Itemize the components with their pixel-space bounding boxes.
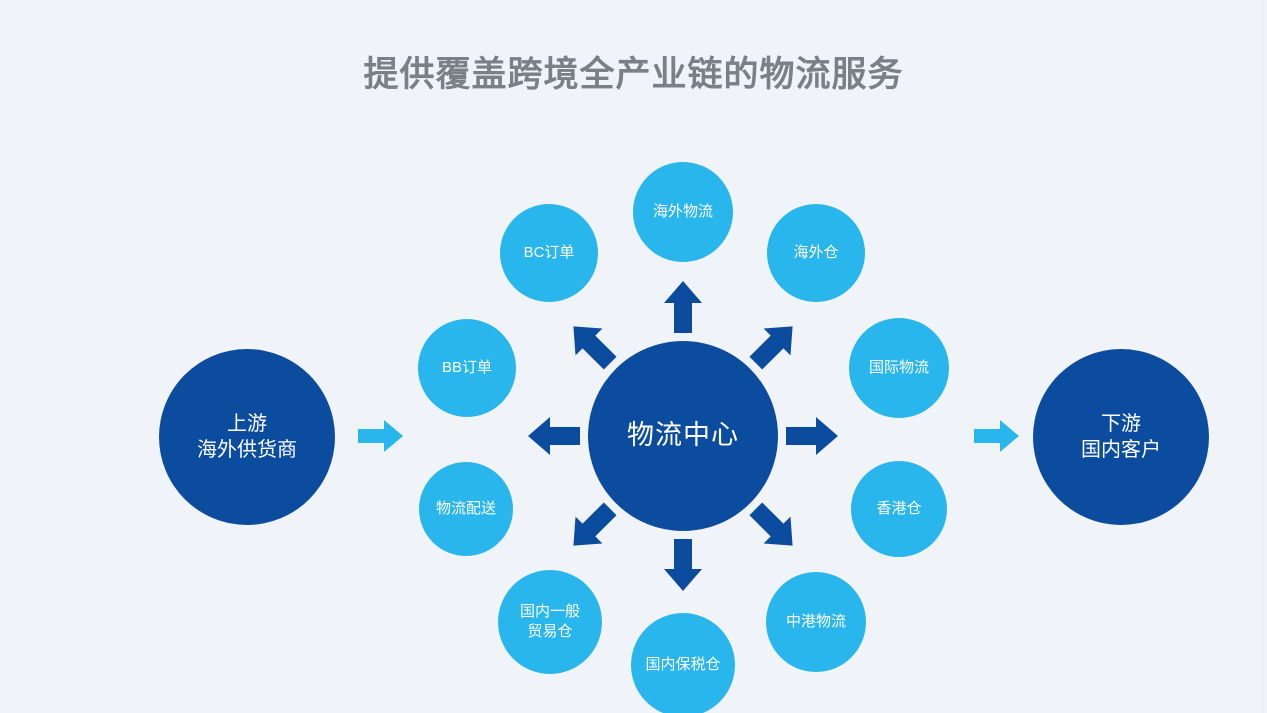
node-satellite-中港物流[interactable]: 中港物流 [766, 572, 866, 672]
node-satellite-海外仓-label: 海外仓 [793, 243, 838, 263]
node-satellite-香港仓[interactable]: 香港仓 [851, 461, 947, 557]
node-satellite-BC订单[interactable]: BC订单 [500, 204, 598, 302]
node-satellite-国内一般[interactable]: 国内一般贸易仓 [498, 570, 602, 674]
node-satellite-BB订单-label: BB订单 [442, 358, 492, 378]
flow-arrow-upstream-to-hub [358, 420, 403, 452]
node-satellite-国内保税仓-label: 国内保税仓 [645, 655, 720, 675]
radial-arrow-2 [786, 417, 838, 455]
node-downstream-label-secondary: 国内客户 [1081, 437, 1161, 463]
flow-arrow-hub-to-downstream [974, 420, 1019, 452]
radial-arrow-5 [560, 495, 624, 559]
node-satellite-国际物流-label: 国际物流 [869, 358, 929, 378]
radial-arrow-4 [664, 539, 702, 591]
node-satellite-国内一般-label: 国内一般 [520, 602, 580, 622]
diagram-canvas: 提供覆盖跨境全产业链的物流服务 上游海外供货商下游国内客户BC订单海外物流海外仓… [0, 0, 1267, 713]
node-upstream[interactable]: 上游海外供货商 [159, 349, 335, 525]
node-hub-label: 物流中心 [627, 418, 739, 454]
radial-arrow-7 [560, 313, 624, 377]
radial-arrow-6 [528, 417, 580, 455]
node-upstream-label-secondary: 海外供货商 [197, 437, 297, 463]
node-downstream-label: 下游 [1101, 411, 1141, 437]
node-satellite-BB订单[interactable]: BB订单 [418, 319, 516, 417]
node-satellite-国际物流[interactable]: 国际物流 [849, 318, 949, 418]
node-satellite-中港物流-label: 中港物流 [786, 612, 846, 632]
node-satellite-物流配送[interactable]: 物流配送 [419, 462, 513, 556]
node-satellite-海外物流-label: 海外物流 [653, 202, 713, 222]
node-satellite-香港仓-label: 香港仓 [876, 499, 921, 519]
node-satellite-海外物流[interactable]: 海外物流 [633, 162, 733, 262]
node-satellite-国内一般-label-secondary: 贸易仓 [527, 622, 572, 642]
node-satellite-国内保税仓[interactable]: 国内保税仓 [631, 613, 735, 713]
node-satellite-海外仓[interactable]: 海外仓 [767, 204, 865, 302]
node-downstream[interactable]: 下游国内客户 [1033, 349, 1209, 525]
page-title: 提供覆盖跨境全产业链的物流服务 [0, 46, 1267, 97]
node-hub[interactable]: 物流中心 [588, 341, 778, 531]
radial-arrow-1 [742, 313, 806, 377]
radial-arrow-0 [664, 281, 702, 333]
node-upstream-label: 上游 [227, 411, 267, 437]
node-satellite-物流配送-label: 物流配送 [436, 499, 496, 519]
node-satellite-BC订单-label: BC订单 [524, 243, 575, 263]
right-edge-divider [1262, 0, 1263, 713]
radial-arrow-3 [742, 495, 806, 559]
